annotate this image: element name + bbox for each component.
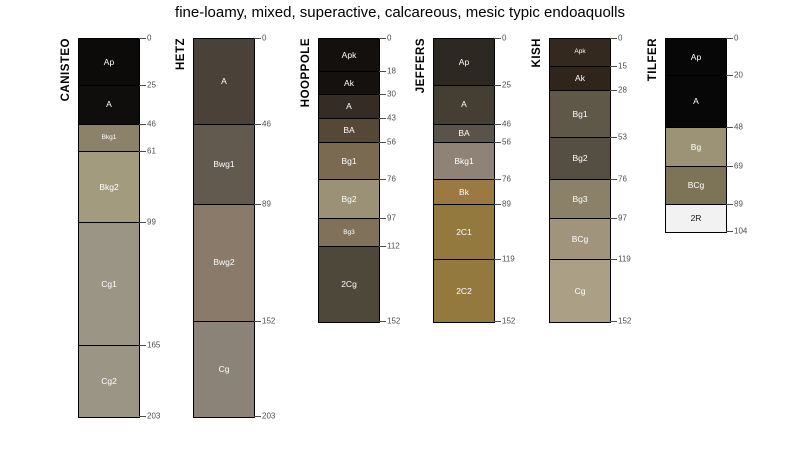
horizon-label: Bkg1 bbox=[102, 135, 117, 142]
depth-tick-label: 0 bbox=[262, 34, 266, 43]
horizon-label: Cg1 bbox=[101, 280, 117, 289]
depth-tick bbox=[379, 321, 386, 322]
horizon-bkg2[interactable]: Bkg2 bbox=[79, 152, 139, 223]
horizon-label: BA bbox=[458, 129, 469, 138]
depth-tick-label: 46 bbox=[147, 119, 156, 128]
horizon-label: Cg bbox=[575, 287, 586, 296]
horizon-label: BCg bbox=[572, 235, 589, 244]
profile-name-label: HOOPPOLE bbox=[300, 38, 312, 107]
profile-column: ApABkg1Bkg2Cg1Cg2 bbox=[78, 38, 140, 418]
depth-tick-label: 89 bbox=[502, 199, 511, 208]
horizon-label: 2C2 bbox=[456, 287, 472, 296]
horizon-ap[interactable]: Ap bbox=[666, 39, 726, 76]
profile-name-label: KISH bbox=[531, 38, 543, 67]
depth-tick bbox=[494, 259, 501, 260]
depth-tick-label: 152 bbox=[502, 316, 515, 325]
horizon-ba[interactable]: BA bbox=[319, 119, 379, 143]
depth-tick-label: 20 bbox=[734, 71, 743, 80]
horizon-bkg1[interactable]: Bkg1 bbox=[79, 125, 139, 153]
horizon-label: A bbox=[346, 102, 352, 111]
horizon-label: Apk bbox=[574, 49, 585, 56]
horizon-bcg[interactable]: BCg bbox=[666, 167, 726, 204]
horizon-label: Cg bbox=[219, 365, 230, 374]
depth-tick-label: 69 bbox=[734, 162, 743, 171]
horizon-bwg1[interactable]: Bwg1 bbox=[194, 125, 254, 205]
horizon-bcg[interactable]: BCg bbox=[550, 219, 610, 260]
depth-tick bbox=[254, 321, 261, 322]
depth-tick-label: 0 bbox=[502, 34, 506, 43]
horizon-label: Ak bbox=[344, 79, 354, 88]
horizon-a[interactable]: A bbox=[194, 39, 254, 125]
chart-title: fine-loamy, mixed, superactive, calcareo… bbox=[0, 4, 800, 21]
horizon-bg2[interactable]: Bg2 bbox=[550, 138, 610, 181]
depth-tick-label: 25 bbox=[147, 80, 156, 89]
depth-tick bbox=[494, 85, 501, 86]
horizon-bkg1[interactable]: Bkg1 bbox=[434, 143, 494, 180]
profile-column: ApABgBCg2R bbox=[665, 38, 727, 233]
depth-tick-label: 48 bbox=[734, 123, 743, 132]
horizon-label: Bg2 bbox=[572, 154, 587, 163]
depth-tick-label: 76 bbox=[387, 175, 396, 184]
horizon-label: Apk bbox=[342, 51, 357, 60]
depth-tick-label: 89 bbox=[734, 199, 743, 208]
depth-tick bbox=[610, 66, 617, 67]
depth-tick-label: 97 bbox=[387, 214, 396, 223]
depth-tick-label: 18 bbox=[387, 67, 396, 76]
horizon-label: 2Cg bbox=[341, 280, 357, 289]
depth-tick bbox=[494, 204, 501, 205]
horizon-label: A bbox=[461, 100, 467, 109]
depth-tick-label: 46 bbox=[262, 119, 271, 128]
horizon-label: Bg2 bbox=[341, 195, 356, 204]
depth-tick-label: 152 bbox=[618, 316, 631, 325]
depth-tick bbox=[139, 151, 146, 152]
horizon-2cg[interactable]: 2Cg bbox=[319, 247, 379, 321]
horizon-2c2[interactable]: 2C2 bbox=[434, 260, 494, 321]
depth-tick-label: 99 bbox=[147, 218, 156, 227]
horizon-label: BA bbox=[343, 126, 354, 135]
horizon-bg1[interactable]: Bg1 bbox=[550, 91, 610, 138]
horizon-bg1[interactable]: Bg1 bbox=[319, 143, 379, 180]
horizon-label: A bbox=[106, 100, 112, 109]
depth-tick-label: 0 bbox=[387, 34, 391, 43]
horizon-bg2[interactable]: Bg2 bbox=[319, 180, 379, 219]
depth-tick-label: 119 bbox=[618, 255, 631, 264]
horizon-a[interactable]: A bbox=[666, 76, 726, 128]
horizon-label: 2C1 bbox=[456, 228, 472, 237]
horizon-bg3[interactable]: Bg3 bbox=[550, 180, 610, 219]
depth-tick bbox=[379, 71, 386, 72]
depth-tick-label: 30 bbox=[387, 89, 396, 98]
depth-tick bbox=[379, 218, 386, 219]
depth-tick bbox=[494, 124, 501, 125]
depth-tick bbox=[139, 124, 146, 125]
horizon-label: A bbox=[693, 97, 699, 106]
depth-tick-label: 112 bbox=[387, 242, 400, 251]
depth-tick bbox=[726, 166, 733, 167]
horizon-ak[interactable]: Ak bbox=[550, 67, 610, 91]
depth-tick bbox=[379, 94, 386, 95]
depth-tick bbox=[379, 118, 386, 119]
horizon-label: Ap bbox=[691, 53, 701, 62]
depth-tick bbox=[610, 179, 617, 180]
depth-tick bbox=[379, 38, 386, 39]
depth-tick-label: 46 bbox=[502, 119, 511, 128]
depth-tick bbox=[726, 75, 733, 76]
depth-tick bbox=[726, 38, 733, 39]
horizon-apk[interactable]: Apk bbox=[550, 39, 610, 67]
horizon-2c1[interactable]: 2C1 bbox=[434, 205, 494, 261]
depth-tick bbox=[726, 127, 733, 128]
horizon-label: BCg bbox=[688, 181, 705, 190]
horizon-bg3[interactable]: Bg3 bbox=[319, 219, 379, 247]
horizon-label: Ap bbox=[104, 58, 114, 67]
horizon-label: A bbox=[221, 77, 227, 86]
horizon-ap[interactable]: Ap bbox=[434, 39, 494, 86]
depth-tick bbox=[379, 246, 386, 247]
depth-tick bbox=[254, 124, 261, 125]
depth-tick-label: 76 bbox=[618, 175, 627, 184]
depth-tick bbox=[610, 259, 617, 260]
depth-tick bbox=[254, 38, 261, 39]
depth-tick bbox=[610, 218, 617, 219]
depth-tick-label: 0 bbox=[734, 34, 738, 43]
depth-tick bbox=[610, 38, 617, 39]
horizon-apk[interactable]: Apk bbox=[319, 39, 379, 72]
horizon-ap[interactable]: Ap bbox=[79, 39, 139, 86]
profile-column: ABwg1Bwg2Cg bbox=[193, 38, 255, 418]
horizon-label: Ak bbox=[575, 74, 585, 83]
horizon-bwg2[interactable]: Bwg2 bbox=[194, 205, 254, 322]
horizon-ba[interactable]: BA bbox=[434, 125, 494, 144]
depth-tick bbox=[254, 416, 261, 417]
depth-tick-label: 97 bbox=[618, 214, 627, 223]
horizon-cg1[interactable]: Cg1 bbox=[79, 223, 139, 346]
depth-tick bbox=[139, 345, 146, 346]
horizon-label: Bkg1 bbox=[454, 157, 473, 166]
horizon-label: Bkg2 bbox=[99, 183, 118, 192]
depth-tick bbox=[610, 137, 617, 138]
horizon-cg[interactable]: Cg bbox=[550, 260, 610, 321]
depth-tick-label: 0 bbox=[147, 34, 151, 43]
horizon-label: Bg3 bbox=[343, 230, 355, 237]
depth-tick bbox=[139, 38, 146, 39]
depth-tick-label: 152 bbox=[262, 316, 275, 325]
depth-tick-label: 43 bbox=[387, 113, 396, 122]
profile-column: ApkAkABABg1Bg2Bg32Cg bbox=[318, 38, 380, 323]
depth-tick-label: 25 bbox=[502, 80, 511, 89]
depth-tick bbox=[494, 142, 501, 143]
depth-tick-label: 165 bbox=[147, 340, 160, 349]
depth-tick-label: 203 bbox=[262, 411, 275, 420]
depth-tick bbox=[610, 321, 617, 322]
horizon-label: Bg3 bbox=[572, 195, 587, 204]
horizon-a[interactable]: A bbox=[319, 95, 379, 119]
horizon-bk[interactable]: Bk bbox=[434, 180, 494, 204]
profile-name-label: JEFFERS bbox=[415, 38, 427, 93]
depth-tick bbox=[139, 85, 146, 86]
depth-tick-label: 152 bbox=[387, 316, 400, 325]
depth-tick-label: 119 bbox=[502, 255, 515, 264]
profile-name-label: TILFER bbox=[647, 38, 659, 81]
horizon-label: Bg1 bbox=[572, 110, 587, 119]
depth-tick bbox=[139, 222, 146, 223]
horizon-label: Bg1 bbox=[341, 157, 356, 166]
profile-column: ApABABkg1Bk2C12C2 bbox=[433, 38, 495, 323]
profile-column: ApkAkBg1Bg2Bg3BCgCg bbox=[549, 38, 611, 323]
horizon-cg[interactable]: Cg bbox=[194, 322, 254, 417]
depth-tick bbox=[139, 416, 146, 417]
depth-tick-label: 104 bbox=[734, 227, 747, 236]
depth-tick-label: 56 bbox=[387, 138, 396, 147]
soil-profile-chart: fine-loamy, mixed, superactive, calcareo… bbox=[0, 0, 800, 450]
depth-tick bbox=[610, 90, 617, 91]
depth-tick bbox=[254, 204, 261, 205]
horizon-2r[interactable]: 2R bbox=[666, 205, 726, 233]
depth-tick-label: 28 bbox=[618, 86, 627, 95]
horizon-label: 2R bbox=[691, 214, 702, 223]
depth-tick-label: 89 bbox=[262, 199, 271, 208]
depth-tick bbox=[726, 231, 733, 232]
depth-tick bbox=[379, 142, 386, 143]
horizon-a[interactable]: A bbox=[79, 86, 139, 125]
horizon-cg2[interactable]: Cg2 bbox=[79, 346, 139, 417]
depth-tick-label: 53 bbox=[618, 132, 627, 141]
horizon-ak[interactable]: Ak bbox=[319, 72, 379, 94]
depth-tick bbox=[494, 38, 501, 39]
horizon-a[interactable]: A bbox=[434, 86, 494, 125]
depth-tick-label: 56 bbox=[502, 138, 511, 147]
horizon-label: Cg2 bbox=[101, 377, 117, 386]
depth-tick-label: 61 bbox=[147, 147, 156, 156]
profile-name-label: HETZ bbox=[175, 38, 187, 70]
depth-tick bbox=[494, 321, 501, 322]
horizon-label: Bg bbox=[691, 143, 701, 152]
horizon-bg[interactable]: Bg bbox=[666, 128, 726, 167]
horizon-label: Bwg2 bbox=[213, 258, 234, 267]
depth-tick bbox=[494, 179, 501, 180]
depth-tick-label: 76 bbox=[502, 175, 511, 184]
depth-tick-label: 15 bbox=[618, 61, 627, 70]
horizon-label: Bk bbox=[459, 188, 469, 197]
horizon-label: Bwg1 bbox=[213, 160, 234, 169]
depth-tick-label: 203 bbox=[147, 411, 160, 420]
profile-name-label: CANISTEO bbox=[60, 38, 72, 101]
depth-tick-label: 0 bbox=[618, 34, 622, 43]
depth-tick bbox=[379, 179, 386, 180]
horizon-label: Ap bbox=[459, 58, 469, 67]
depth-tick bbox=[726, 204, 733, 205]
